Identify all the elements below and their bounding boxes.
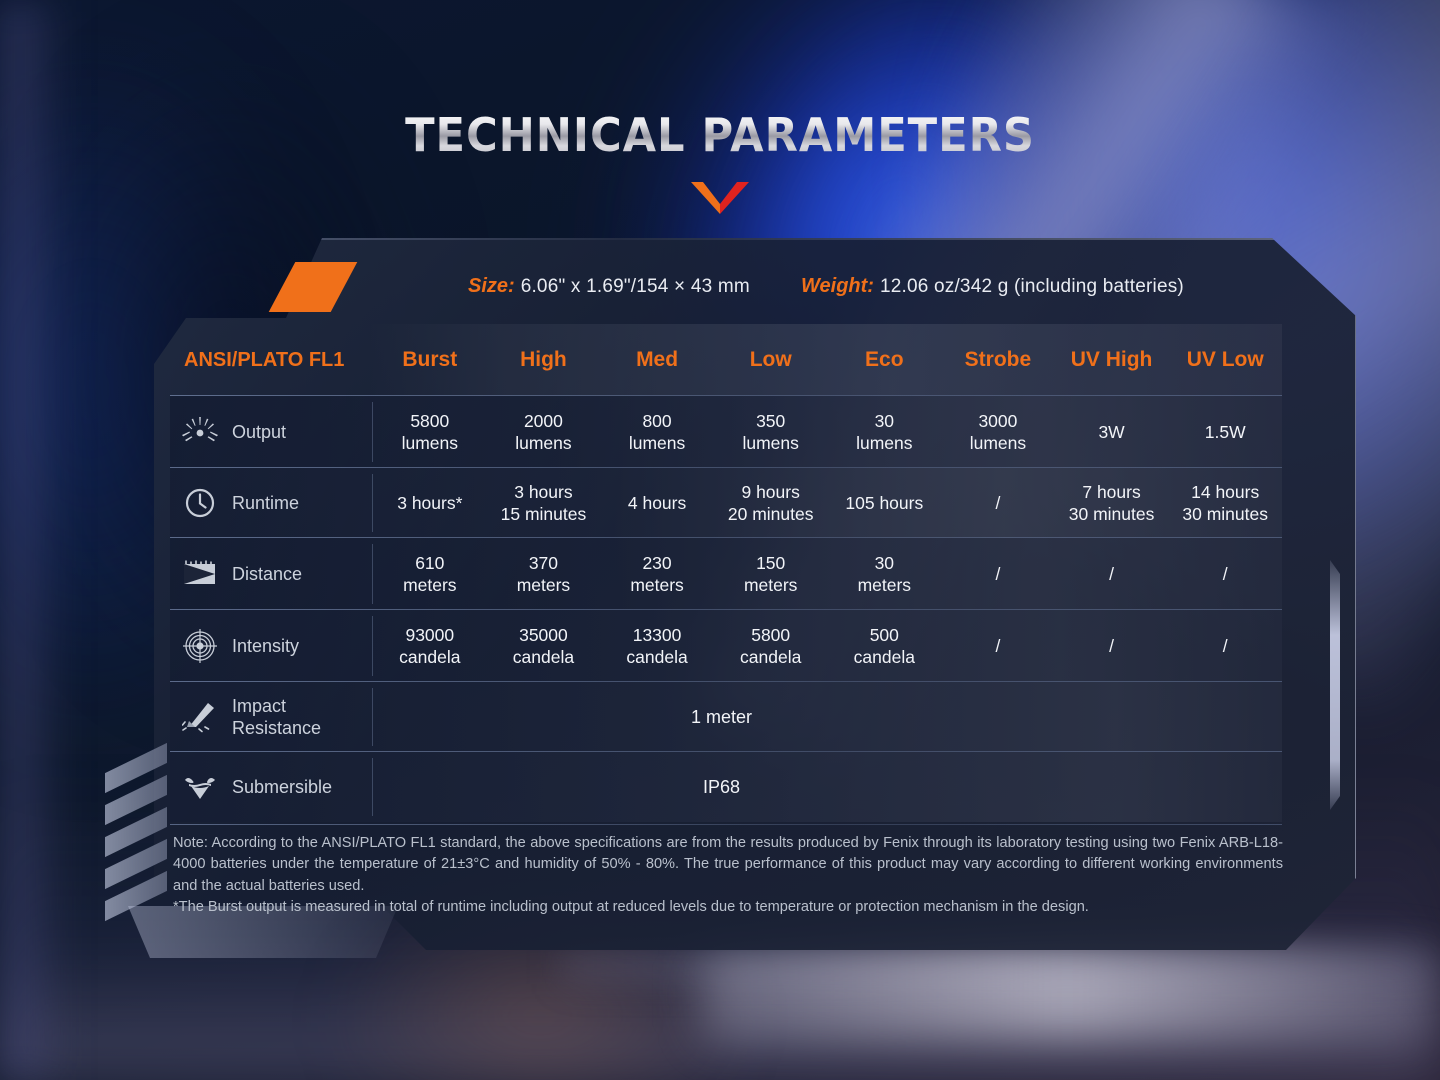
table-row-intensity: Intensity 93000candela 35000candela 1330… <box>170 610 1282 682</box>
row-label-text-impact-resistance: ImpactResistance <box>232 695 321 740</box>
target-icon <box>178 629 222 663</box>
cell-output-low: 350lumens <box>714 396 828 468</box>
cell-intensity-strobe: / <box>941 610 1055 682</box>
cell-distance-uv-low: / <box>1168 538 1282 610</box>
note-separator <box>170 824 1282 825</box>
cell-runtime-strobe: / <box>941 468 1055 538</box>
cell-output-burst: 5800lumens <box>373 396 487 468</box>
table-row-impact-resistance: ImpactResistance 1 meter <box>170 682 1282 752</box>
right-accent-bar <box>1330 560 1340 810</box>
clock-icon <box>178 487 222 519</box>
column-header-strobe: Strobe <box>941 324 1055 396</box>
background-bottom-strip <box>700 950 1440 1040</box>
cell-runtime-med: 4 hours <box>600 468 714 538</box>
ruler-icon <box>178 560 222 588</box>
cell-intensity-uv-low: / <box>1168 610 1282 682</box>
row-label-text-output: Output <box>232 421 286 443</box>
table-row-distance: Distance 610meters 370meters 230meters 1… <box>170 538 1282 610</box>
cell-distance-burst: 610meters <box>373 538 487 610</box>
footnote-line-1: Note: According to the ANSI/PLATO FL1 st… <box>173 833 1283 897</box>
table-row-runtime: Runtime 3 hours* 3 hours15 minutes 4 hou… <box>170 468 1282 538</box>
cell-distance-high: 370meters <box>487 538 601 610</box>
cell-submersible-value: IP68 <box>373 752 1282 822</box>
row-label-distance: Distance <box>170 538 373 610</box>
cell-distance-strobe: / <box>941 538 1055 610</box>
cell-runtime-burst: 3 hours* <box>373 468 487 538</box>
row-label-text-submersible: Submersible <box>232 776 332 798</box>
cell-distance-uv-high: / <box>1055 538 1169 610</box>
cell-impact-resistance-value: 1 meter <box>373 682 1282 752</box>
weight-value: 12.06 oz/342 g (including batteries) <box>880 276 1184 297</box>
background-left-edge-glow <box>0 0 70 1080</box>
cell-intensity-high: 35000candela <box>487 610 601 682</box>
cell-distance-eco: 30meters <box>828 538 942 610</box>
chevron-down-icon <box>691 180 749 214</box>
size-label: Size: <box>468 275 515 297</box>
cell-output-uv-low: 1.5W <box>1168 396 1282 468</box>
table-row-output: Output 5800lumens 2000lumens 800lumens 3… <box>170 396 1282 468</box>
cell-output-eco: 30lumens <box>828 396 942 468</box>
row-label-text-runtime: Runtime <box>232 492 299 514</box>
specifications-table: ANSI/PLATO FL1 Burst High Med Low Eco St… <box>170 324 1282 822</box>
cell-runtime-low: 9 hours20 minutes <box>714 468 828 538</box>
size-spec: Size:6.06" x 1.69"/154 × 43 mm <box>468 275 750 298</box>
page-title: TECHNICAL PARAMETERS <box>43 108 1397 162</box>
cell-distance-med: 230meters <box>600 538 714 610</box>
column-header-burst: Burst <box>373 324 487 396</box>
table-row-submersible: Submersible IP68 <box>170 752 1282 822</box>
cell-runtime-high: 3 hours15 minutes <box>487 468 601 538</box>
column-header-eco: Eco <box>828 324 942 396</box>
impact-icon <box>178 701 222 733</box>
cell-output-med: 800lumens <box>600 396 714 468</box>
column-header-low: Low <box>714 324 828 396</box>
footnote-line-2: *The Burst output is measured in total o… <box>173 897 1283 918</box>
column-header-uv-high: UV High <box>1055 324 1169 396</box>
sunburst-icon <box>178 417 222 447</box>
column-header-uv-low: UV Low <box>1168 324 1282 396</box>
row-label-text-intensity: Intensity <box>232 635 299 657</box>
cell-runtime-uv-low: 14 hours30 minutes <box>1168 468 1282 538</box>
column-header-high: High <box>487 324 601 396</box>
cell-intensity-low: 5800candela <box>714 610 828 682</box>
size-value: 6.06" x 1.69"/154 × 43 mm <box>521 276 750 297</box>
cell-intensity-med: 13300candela <box>600 610 714 682</box>
cell-intensity-burst: 93000candela <box>373 610 487 682</box>
row-label-submersible: Submersible <box>170 752 373 822</box>
row-label-impact-resistance: ImpactResistance <box>170 682 373 752</box>
cell-output-strobe: 3000lumens <box>941 396 1055 468</box>
cell-distance-low: 150meters <box>714 538 828 610</box>
cell-intensity-eco: 500candela <box>828 610 942 682</box>
cell-runtime-uv-high: 7 hours30 minutes <box>1055 468 1169 538</box>
cell-runtime-eco: 105 hours <box>828 468 942 538</box>
cell-output-high: 2000lumens <box>487 396 601 468</box>
footnote: Note: According to the ANSI/PLATO FL1 st… <box>173 833 1283 919</box>
cell-intensity-uv-high: / <box>1055 610 1169 682</box>
row-label-output: Output <box>170 396 373 468</box>
row-label-text-distance: Distance <box>232 563 302 585</box>
column-header-med: Med <box>600 324 714 396</box>
row-label-intensity: Intensity <box>170 610 373 682</box>
weight-spec: Weight:12.06 oz/342 g (including batteri… <box>801 275 1184 298</box>
column-header-ansi: ANSI/PLATO FL1 <box>178 349 344 372</box>
cell-output-uv-high: 3W <box>1055 396 1169 468</box>
table-header-row: ANSI/PLATO FL1 Burst High Med Low Eco St… <box>170 324 1282 396</box>
row-label-runtime: Runtime <box>170 468 373 538</box>
table-header-label-cell: ANSI/PLATO FL1 <box>170 324 373 396</box>
weight-label: Weight: <box>801 275 874 297</box>
water-drop-icon <box>178 773 222 801</box>
